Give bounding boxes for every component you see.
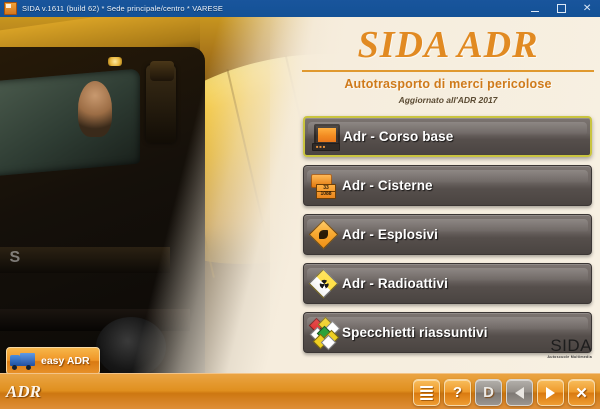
maximize-icon (557, 4, 566, 13)
menu-item-label: Adr - Esplosivi (342, 227, 438, 242)
explosive-diamond-icon (309, 220, 339, 250)
menu-item-label: Specchietti riassuntivi (342, 325, 488, 340)
exit-button[interactable]: ✕ (568, 379, 595, 406)
arrow-right-icon (546, 387, 555, 399)
menu-item-cisterne[interactable]: 33 1088 Adr - Cisterne (303, 165, 592, 206)
plate-bottom-number: 1088 (320, 192, 331, 197)
menu-item-esplosivi[interactable]: Adr - Esplosivi (303, 214, 592, 255)
main-menu: ■■■ Adr - Corso base 33 1088 Adr - Ciste… (303, 116, 592, 361)
main-stage: IS SIDA ADR Autotrasporto di merci peric… (0, 17, 600, 409)
minimize-icon (531, 11, 539, 12)
minimize-button[interactable] (522, 0, 548, 17)
menu-item-radioattivi[interactable]: Adr - Radioattivi (303, 263, 592, 304)
forward-button[interactable] (537, 379, 564, 406)
header-note: Aggiornato all'ADR 2017 (296, 95, 600, 105)
close-icon: ✕ (583, 4, 592, 14)
radioactive-diamond-icon (309, 269, 339, 299)
header: SIDA ADR Autotrasporto di merci pericolo… (296, 17, 600, 105)
menu-item-label: Adr - Radioattivi (342, 276, 448, 291)
title-bar: SIDA v.1611 (build 62) * Sede principale… (0, 0, 600, 17)
truck-icon (10, 352, 36, 370)
close-x-icon: ✕ (575, 384, 588, 402)
menu-list-button[interactable] (413, 379, 440, 406)
toolbar: ? D ✕ (413, 379, 595, 406)
menu-item-label: Adr - Cisterne (342, 178, 433, 193)
status-bar: ADR ? D ✕ (0, 373, 600, 409)
window-title: SIDA v.1611 (build 62) * Sede principale… (22, 4, 223, 13)
app-icon (4, 2, 17, 15)
sida-logo-name: SIDA (547, 337, 592, 355)
maximize-button[interactable] (548, 0, 574, 17)
help-button[interactable]: ? (444, 379, 471, 406)
menu-item-corso-base[interactable]: ■■■ Adr - Corso base (303, 116, 592, 157)
dictionary-button[interactable]: D (475, 379, 502, 406)
sida-logo: SIDA Autoscuole Multimedia (547, 337, 592, 360)
status-label: ADR (6, 382, 41, 402)
window-controls: ✕ (522, 0, 600, 17)
application-window: SIDA v.1611 (build 62) * Sede principale… (0, 0, 600, 409)
easy-adr-label: easy ADR (41, 355, 90, 367)
header-subtitle: Autotrasporto di merci pericolose (296, 77, 600, 91)
easy-adr-badge[interactable]: easy ADR (6, 347, 100, 375)
close-window-button[interactable]: ✕ (574, 0, 600, 17)
sida-logo-tagline: Autoscuole Multimedia (547, 355, 592, 360)
arrow-left-icon (515, 387, 524, 399)
back-button[interactable] (506, 379, 533, 406)
question-mark-icon: ? (453, 384, 462, 401)
title-divider (302, 70, 594, 72)
hazard-cluster-icon (309, 318, 339, 348)
tank-plate-icon: 33 1088 (309, 171, 339, 201)
page-title: SIDA ADR (296, 23, 600, 67)
letter-d-icon: D (483, 384, 494, 401)
menu-item-label: Adr - Corso base (343, 129, 453, 144)
monitor-icon: ■■■ (310, 122, 340, 152)
list-icon (420, 386, 433, 400)
